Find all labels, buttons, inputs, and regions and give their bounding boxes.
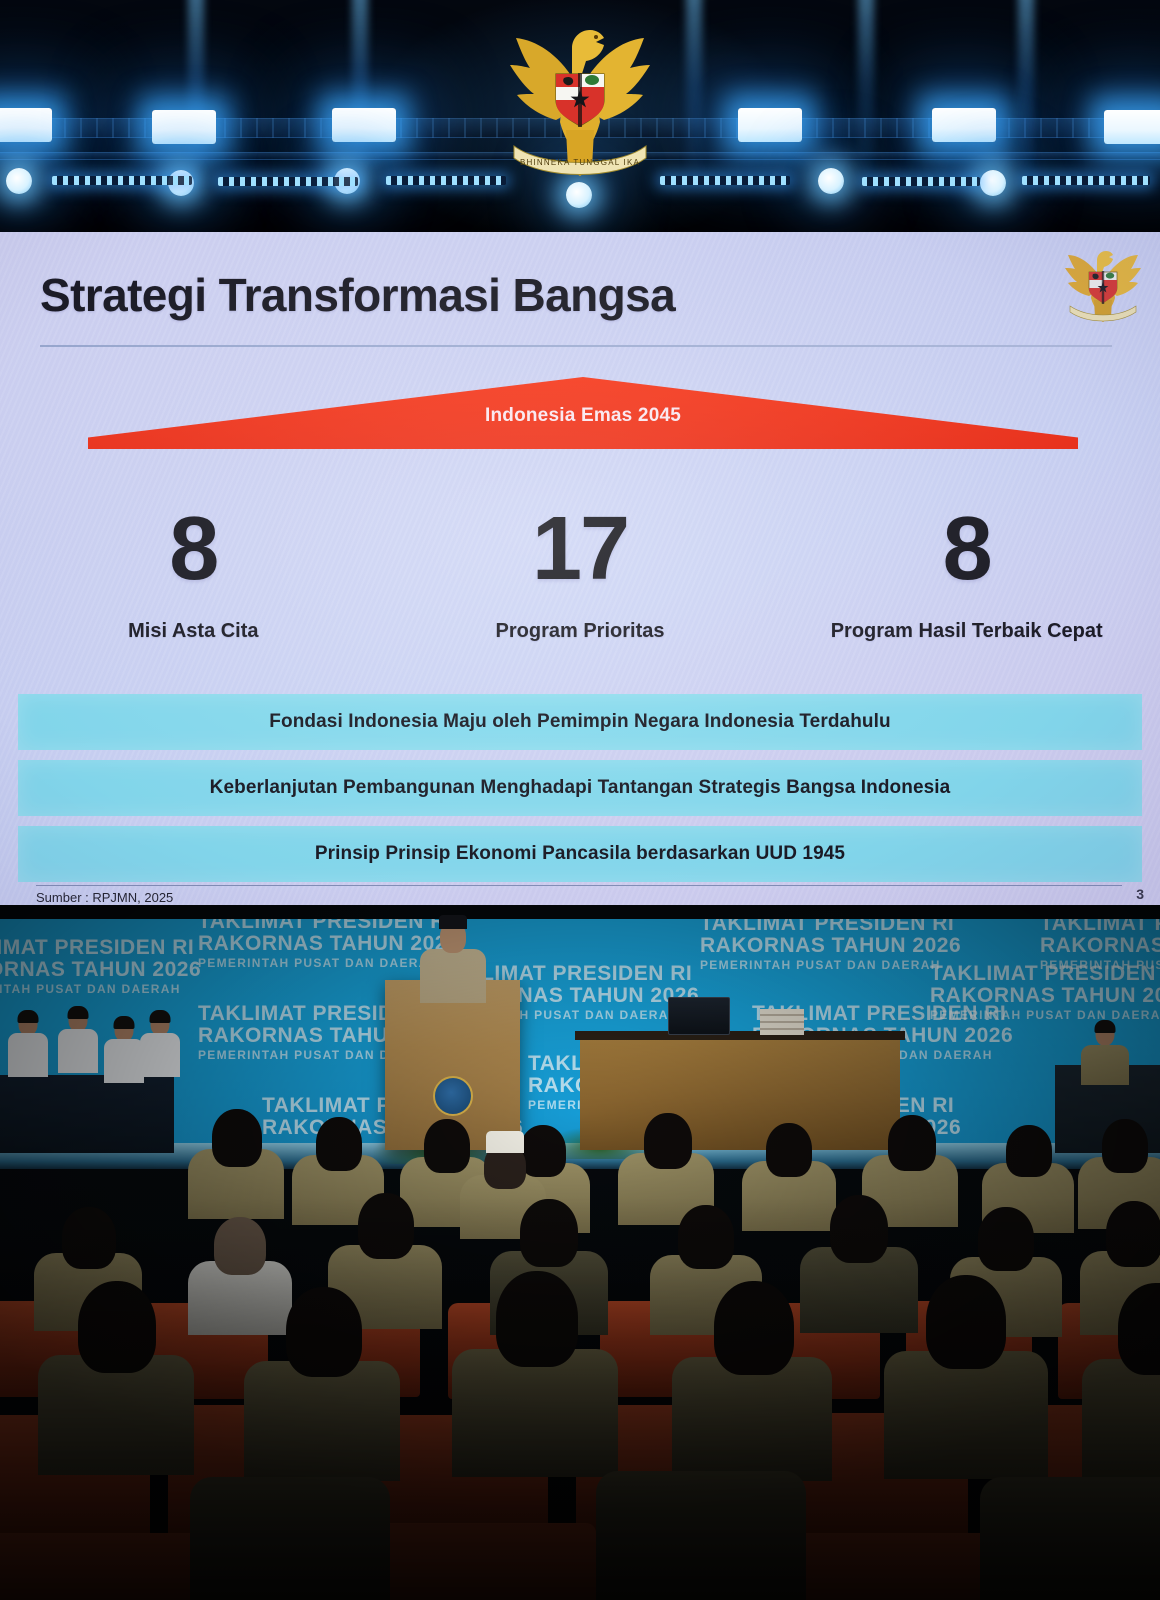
audience-member-head xyxy=(78,1281,156,1373)
audience-member xyxy=(244,1361,400,1481)
source-note: Sumber : RPJMN, 2025 xyxy=(36,890,173,905)
audience-member-head xyxy=(714,1281,794,1375)
stat-block-program-hasil-terbaik-cepat: 8 Program Hasil Terbaik Cepat xyxy=(773,504,1160,643)
footer-divider xyxy=(36,885,1122,886)
stat-label: Program Hasil Terbaik Cepat xyxy=(773,620,1160,643)
audience-member-head xyxy=(830,1195,888,1263)
projected-slide: Strategi Transformasi Bangsa Indonesia xyxy=(0,232,1160,905)
person-hair xyxy=(150,1010,171,1023)
panel-official xyxy=(8,1013,48,1075)
title-divider xyxy=(40,345,1112,347)
audience-member xyxy=(980,1477,1160,1600)
backdrop-line3: PEMERINTAH PUSAT DAN DAERAH xyxy=(930,1009,1160,1021)
foundation-bar: Prinsip Prinsip Ekonomi Pancasila berdas… xyxy=(18,826,1142,882)
audience-member-head xyxy=(766,1123,812,1177)
person-body xyxy=(140,1033,180,1077)
light-beam xyxy=(352,0,368,190)
stat-label: Program Prioritas xyxy=(387,620,774,643)
stat-number: 8 xyxy=(773,504,1160,594)
led-strip xyxy=(1022,176,1150,185)
backdrop-line2: RAKORNAS TAHUN 2026 xyxy=(930,985,1160,1006)
audience-member-head xyxy=(286,1287,362,1377)
light-beam xyxy=(686,0,702,190)
foundation-bars: Fondasi Indonesia Maju oleh Pemimpin Neg… xyxy=(18,694,1142,892)
audience-member-head xyxy=(978,1207,1034,1271)
audience-member xyxy=(452,1349,618,1477)
person-body xyxy=(104,1039,144,1083)
panel-official xyxy=(58,1009,98,1071)
svg-text:BHINNEKA TUNGGAL IKA: BHINNEKA TUNGGAL IKA xyxy=(520,158,640,167)
stat-block-misi-asta-cita: 8 Misi Asta Cita xyxy=(0,504,387,643)
person-hair xyxy=(1095,1020,1116,1033)
audience-member xyxy=(884,1351,1048,1479)
spot-light xyxy=(980,170,1006,196)
stage-lighting-area: BHINNEKA TUNGGAL IKA xyxy=(0,0,1160,232)
foundation-bar-text: Prinsip Prinsip Ekonomi Pancasila berdas… xyxy=(315,843,845,865)
garuda-pancasila-emblem: BHINNEKA TUNGGAL IKA xyxy=(500,18,660,193)
led-strip xyxy=(52,176,192,185)
backdrop-line2: RAKORNAS TAHUN 2026 xyxy=(1040,935,1160,956)
backdrop-line1: TAKLIMAT PRESIDEN RI xyxy=(198,919,452,932)
person-hair xyxy=(114,1016,135,1029)
speaker-body xyxy=(420,949,486,1003)
audience-member xyxy=(672,1357,832,1481)
light-beam xyxy=(1018,0,1034,190)
led-strip xyxy=(660,176,790,185)
slide-page-number: 3 xyxy=(1136,886,1144,902)
desk-surface xyxy=(575,1031,905,1040)
peci-cap xyxy=(439,915,467,929)
spot-light xyxy=(818,168,844,194)
audience-member-head xyxy=(358,1193,414,1259)
document-stack xyxy=(760,1009,804,1035)
speaker-at-podium xyxy=(418,921,488,997)
laptop-icon xyxy=(668,997,730,1035)
audience-member-head xyxy=(1102,1119,1148,1173)
panel-light xyxy=(932,108,996,142)
stats-row: 8 Misi Asta Cita 17 Program Prioritas 8 … xyxy=(0,504,1160,643)
foundation-bar: Keberlanjutan Pembangunan Menghadapi Tan… xyxy=(18,760,1142,816)
panel-light xyxy=(332,108,396,142)
backdrop-line3: PEMERINTAH PUSAT DAN DAERAH xyxy=(1040,959,1160,971)
audience-member-head xyxy=(316,1117,362,1171)
led-strip xyxy=(218,177,358,186)
stat-number: 17 xyxy=(387,504,774,594)
audience-member-head xyxy=(1006,1125,1052,1177)
foundation-bar: Fondasi Indonesia Maju oleh Pemimpin Neg… xyxy=(18,694,1142,750)
backdrop-line3: PEMERINTAH PUSAT DAN DAERAH xyxy=(700,959,941,971)
backdrop-line2: RAKORNAS TAHUN 2026 xyxy=(0,959,201,980)
indonesia-emas-triangle: Indonesia Emas 2045 xyxy=(88,377,1078,449)
triangle-label: Indonesia Emas 2045 xyxy=(88,405,1078,427)
backdrop-line3: PEMERINTAH PUSAT DAN DAERAH xyxy=(198,957,439,969)
audience-member xyxy=(190,1477,390,1600)
foundation-bar-text: Keberlanjutan Pembangunan Menghadapi Tan… xyxy=(210,777,951,799)
panel-official xyxy=(140,1013,180,1075)
light-beam xyxy=(188,0,204,190)
audience-member-head xyxy=(1106,1201,1160,1267)
auditorium-photo: TAKLIMAT PRESIDEN RI RAKORNAS TAHUN 2026… xyxy=(0,905,1160,1600)
audience-member-head xyxy=(926,1275,1006,1369)
light-beam xyxy=(858,0,874,190)
backdrop-line2: RAKORNAS TAHUN 2026 xyxy=(700,935,961,956)
panel-light xyxy=(0,108,52,142)
stat-number: 8 xyxy=(0,504,387,594)
audience-member xyxy=(596,1471,806,1600)
audience-member-head xyxy=(888,1115,936,1171)
page-title: Strategi Transformasi Bangsa xyxy=(40,268,675,322)
backdrop-line1: TAKLIMAT PRESIDEN RI xyxy=(700,919,954,934)
audience-member xyxy=(38,1355,194,1475)
panel-light xyxy=(1104,110,1160,144)
led-strip xyxy=(862,177,980,186)
audience-member-head xyxy=(62,1207,116,1269)
audience-member-head xyxy=(496,1271,578,1367)
audience-member-head xyxy=(644,1113,692,1169)
audience-member-head xyxy=(424,1119,470,1173)
stat-block-program-prioritas: 17 Program Prioritas xyxy=(387,504,774,643)
person-body xyxy=(58,1029,98,1073)
led-strip xyxy=(386,176,506,185)
panel-light xyxy=(152,110,216,144)
spot-light xyxy=(6,168,32,194)
audience-member-head xyxy=(520,1125,566,1177)
person-hair xyxy=(18,1010,39,1023)
auditorium-chair xyxy=(0,1533,210,1600)
backdrop-line1: TAKLIMAT PRESIDEN RI xyxy=(0,937,194,958)
garuda-pancasila-emblem xyxy=(1064,246,1142,324)
foundation-bar-text: Fondasi Indonesia Maju oleh Pemimpin Neg… xyxy=(269,711,890,733)
audience-member-head xyxy=(520,1199,578,1267)
audience-member-head xyxy=(212,1109,262,1167)
person-body xyxy=(1081,1045,1129,1085)
audience-member-head xyxy=(678,1205,734,1269)
person-hair xyxy=(68,1006,89,1019)
person-body xyxy=(8,1033,48,1077)
panel-official xyxy=(104,1019,144,1081)
kopiah-cap xyxy=(486,1131,524,1153)
stat-label: Misi Asta Cita xyxy=(0,620,387,643)
audience-seating xyxy=(0,1105,1160,1600)
backdrop-line3: PEMERINTAH PUSAT DAN DAERAH xyxy=(0,983,181,995)
panel-light xyxy=(738,108,802,142)
seated-official-right xyxy=(1085,1023,1125,1085)
audience-member xyxy=(1082,1359,1160,1483)
audience-member-head xyxy=(214,1217,266,1275)
backdrop-line1: TAKLIMAT PRESIDEN RI xyxy=(1040,919,1160,934)
